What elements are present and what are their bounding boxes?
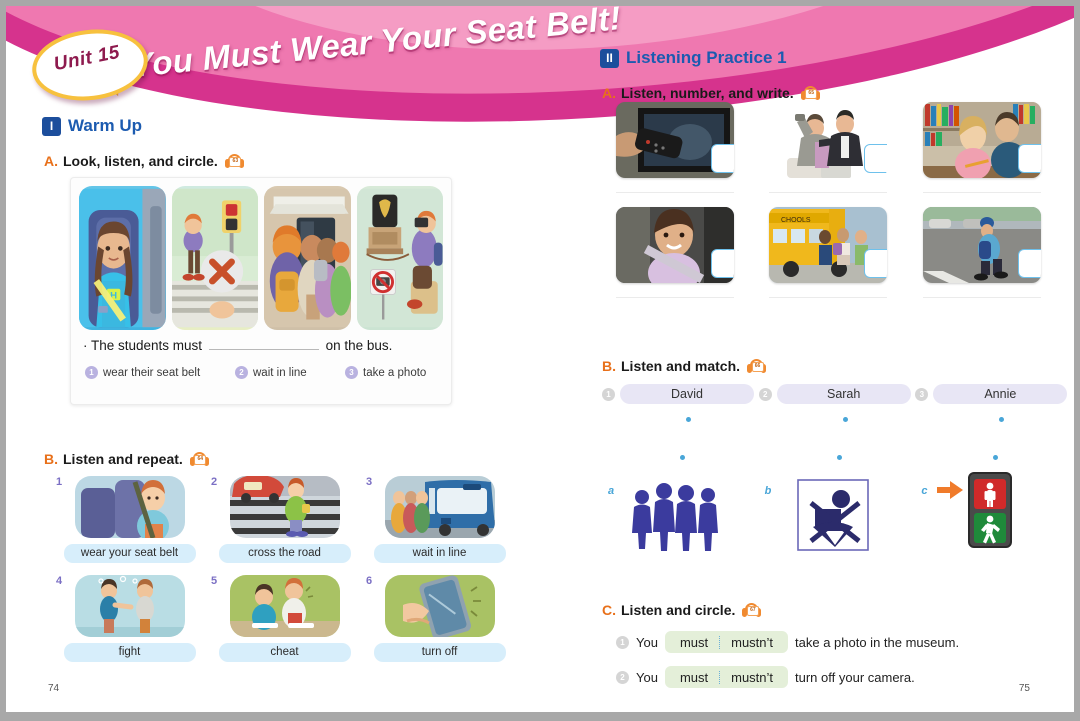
photo-item bbox=[604, 207, 757, 298]
write-line[interactable] bbox=[923, 192, 1041, 193]
name-pill: David bbox=[620, 384, 754, 404]
match-dot[interactable] bbox=[680, 455, 685, 460]
circle-question: 1 You must mustn’t take a photo in the m… bbox=[616, 631, 1072, 653]
warm-up-option[interactable]: 2 wait in line bbox=[235, 366, 345, 379]
unit-badge: Unit 15 bbox=[32, 30, 140, 92]
vocab-image-turn-off bbox=[385, 575, 495, 637]
match-dot[interactable] bbox=[993, 455, 998, 460]
illustration-stop-crossing[interactable] bbox=[172, 186, 259, 330]
sentence-suffix: turn off your camera. bbox=[795, 670, 915, 685]
part-c-heading: C. Listen and circle. 67 bbox=[602, 602, 1072, 618]
part-letter: A. bbox=[602, 85, 616, 101]
book-spread: You Must Wear Your Seat Belt! Unit 15 I … bbox=[6, 6, 1074, 712]
left-page: I Warm Up A. Look, listen, and circle. 6… bbox=[6, 102, 566, 712]
vocab-item[interactable]: 1 wear bbox=[52, 476, 207, 563]
no-seat-belt-sign-icon bbox=[797, 479, 869, 556]
audio-track-number: 63 bbox=[229, 157, 241, 167]
vocab-item[interactable]: 6 bbox=[362, 575, 517, 662]
section-title: Listening Practice 1 bbox=[626, 48, 787, 68]
icon-letter: b bbox=[765, 485, 772, 497]
sentence-prefix: You bbox=[636, 635, 658, 650]
part-instruction: Listen and circle. bbox=[621, 602, 735, 618]
page-number-right: 75 bbox=[1019, 683, 1030, 694]
warm-up-sentence: · The students must on the bus. bbox=[83, 338, 439, 353]
photo-item: CHOOLS bbox=[757, 207, 910, 298]
item-number: 6 bbox=[366, 575, 372, 587]
match-icon-item[interactable]: b bbox=[759, 467, 916, 547]
option-label: take a photo bbox=[363, 367, 426, 379]
warm-up-option[interactable]: 1 wear their seat belt bbox=[85, 366, 235, 379]
photo-boy-crossing-street[interactable] bbox=[923, 207, 1041, 283]
icon-letter: c bbox=[921, 485, 927, 497]
part-b-heading: B. Listen and match. 66 bbox=[602, 358, 1072, 374]
match-dot[interactable] bbox=[686, 417, 691, 422]
option-label: wear their seat belt bbox=[103, 367, 200, 379]
audio-track-number: 64 bbox=[194, 455, 206, 465]
item-number: 2 bbox=[759, 388, 772, 401]
item-number: 2 bbox=[616, 671, 629, 684]
match-icon-row: a b bbox=[602, 467, 1072, 547]
item-number: 3 bbox=[915, 388, 928, 401]
listen-repeat-grid: 1 wear bbox=[52, 476, 522, 674]
answer-box[interactable] bbox=[1018, 144, 1041, 173]
match-dot[interactable] bbox=[999, 417, 1004, 422]
photo-row: CHOOLS bbox=[604, 207, 1064, 298]
item-number: 4 bbox=[56, 575, 62, 587]
audio-track-number: 66 bbox=[752, 362, 764, 372]
name-pill-row: 1 David 2 Sarah 3 Annie bbox=[602, 384, 1072, 404]
photo-children-school-bus[interactable]: CHOOLS bbox=[769, 207, 887, 283]
match-icon-item[interactable]: c bbox=[915, 467, 1072, 547]
warm-up-illustration-strip: H bbox=[79, 186, 443, 330]
part-instruction: Listen, number, and write. bbox=[621, 85, 794, 101]
listen-number-write-grid: CHOOLS bbox=[604, 102, 1064, 312]
name-item[interactable]: 3 Annie bbox=[915, 384, 1072, 404]
vocab-image-wait-in-line bbox=[385, 476, 495, 538]
choice-must[interactable]: must bbox=[669, 670, 719, 685]
listen-repeat-row: 1 wear bbox=[52, 476, 522, 563]
right-page: II Listening Practice 1 A. Listen, numbe… bbox=[566, 30, 1074, 712]
warm-up-options: 1 wear their seat belt 2 wait in line 3 … bbox=[85, 366, 441, 379]
name-pill: Annie bbox=[933, 384, 1067, 404]
name-item[interactable]: 1 David bbox=[602, 384, 759, 404]
warm-up-card: H bbox=[70, 177, 452, 405]
listen-and-match: B. Listen and match. 66 1 David 2 Sarah … bbox=[602, 358, 1072, 547]
choice-group: must mustn’t bbox=[665, 666, 788, 688]
part-a-heading: A. Listen, number, and write. 65 bbox=[602, 85, 820, 101]
part-a-heading: A. Look, listen, and circle. 63 bbox=[44, 153, 244, 169]
pedestrian-traffic-light-icon bbox=[967, 471, 1013, 554]
name-item[interactable]: 2 Sarah bbox=[759, 384, 916, 404]
sentence-suffix: take a photo in the museum. bbox=[795, 635, 959, 650]
part-instruction: Look, listen, and circle. bbox=[63, 153, 218, 169]
photo-item bbox=[911, 207, 1064, 298]
write-line[interactable] bbox=[616, 192, 734, 193]
match-dot-row-top bbox=[602, 409, 1072, 427]
sentence-prefix: You bbox=[636, 670, 658, 685]
illustration-wait-in-line[interactable] bbox=[264, 186, 351, 330]
answer-box[interactable] bbox=[711, 144, 734, 173]
match-dot[interactable] bbox=[837, 455, 842, 460]
photo-tv-remote[interactable] bbox=[616, 102, 734, 178]
listen-repeat-row: 4 bbox=[52, 575, 522, 662]
sentence-prefix: · The students must bbox=[83, 338, 202, 353]
write-line[interactable] bbox=[616, 297, 734, 298]
write-line[interactable] bbox=[769, 192, 887, 193]
vocab-item[interactable]: 4 bbox=[52, 575, 207, 662]
audio-track-number: 65 bbox=[805, 89, 817, 99]
icon-letter: a bbox=[608, 485, 614, 497]
vocab-image-cross-road bbox=[230, 476, 340, 538]
option-number: 1 bbox=[85, 366, 98, 379]
vocab-item[interactable]: 2 bbox=[207, 476, 362, 563]
vocab-image-seat-belt bbox=[75, 476, 185, 538]
vocab-image-cheat bbox=[230, 575, 340, 637]
photo-girl-car-seat-belt[interactable] bbox=[616, 207, 734, 283]
vocab-label: turn off bbox=[374, 643, 506, 662]
part-instruction: Listen and match. bbox=[621, 358, 740, 374]
vocab-label: cross the road bbox=[219, 544, 351, 563]
item-number: 1 bbox=[602, 388, 615, 401]
page-number-left: 74 bbox=[48, 683, 59, 694]
photo-item bbox=[757, 102, 910, 193]
match-icon-item[interactable]: a bbox=[602, 467, 759, 547]
section-roman-numeral: I bbox=[42, 117, 61, 136]
illustration-seat-belt[interactable]: H bbox=[79, 186, 166, 330]
item-number: 1 bbox=[56, 476, 62, 488]
listening-practice-heading: II Listening Practice 1 bbox=[600, 48, 787, 68]
illustration-no-photo[interactable] bbox=[357, 186, 444, 330]
vocab-item[interactable]: 3 bbox=[362, 476, 517, 563]
part-instruction: Listen and repeat. bbox=[63, 451, 183, 467]
people-in-line-icon bbox=[628, 481, 726, 556]
vocab-item[interactable]: 5 bbox=[207, 575, 362, 662]
headphone-icon: 64 bbox=[190, 452, 209, 467]
vocab-image-fight bbox=[75, 575, 185, 637]
match-dot[interactable] bbox=[843, 417, 848, 422]
section-title: Warm Up bbox=[68, 116, 142, 136]
answer-box[interactable] bbox=[864, 144, 887, 173]
answer-box[interactable] bbox=[711, 249, 734, 278]
photo-item bbox=[911, 102, 1064, 193]
choice-mustnt[interactable]: mustn’t bbox=[720, 635, 784, 650]
vocab-label: cheat bbox=[219, 643, 351, 662]
vocab-label: fight bbox=[64, 643, 196, 662]
item-number: 5 bbox=[211, 575, 217, 587]
choice-must[interactable]: must bbox=[669, 635, 719, 650]
item-number: 2 bbox=[211, 476, 217, 488]
svg-text:CHOOLS: CHOOLS bbox=[781, 217, 811, 224]
write-line[interactable] bbox=[923, 297, 1041, 298]
warm-up-heading: I Warm Up bbox=[42, 116, 142, 136]
answer-box[interactable] bbox=[864, 249, 887, 278]
answer-box[interactable] bbox=[1018, 249, 1041, 278]
sentence-suffix: on the bus. bbox=[326, 338, 393, 353]
option-number: 3 bbox=[345, 366, 358, 379]
option-number: 2 bbox=[235, 366, 248, 379]
headphone-icon: 65 bbox=[801, 86, 820, 101]
vocab-label: wait in line bbox=[374, 544, 506, 563]
headphone-icon: 67 bbox=[742, 603, 761, 618]
part-letter: B. bbox=[602, 358, 616, 374]
item-number: 3 bbox=[366, 476, 372, 488]
name-pill: Sarah bbox=[777, 384, 911, 404]
photo-students-library[interactable] bbox=[923, 102, 1041, 178]
headphone-icon: 66 bbox=[747, 359, 766, 374]
arrow-right-icon bbox=[937, 481, 963, 504]
photo-two-men-fighting[interactable] bbox=[769, 102, 887, 178]
option-label: wait in line bbox=[253, 367, 307, 379]
photo-item bbox=[604, 102, 757, 193]
warm-up-option[interactable]: 3 take a photo bbox=[345, 366, 441, 379]
audio-track-number: 67 bbox=[747, 606, 759, 616]
choice-mustnt[interactable]: mustn’t bbox=[720, 670, 784, 685]
vocab-label: wear your seat belt bbox=[64, 544, 196, 563]
part-b-heading: B. Listen and repeat. 64 bbox=[44, 451, 209, 467]
part-letter: C. bbox=[602, 602, 616, 618]
section-roman-numeral: II bbox=[600, 49, 619, 68]
part-letter: B. bbox=[44, 451, 58, 467]
choice-group: must mustn’t bbox=[665, 631, 788, 653]
item-number: 1 bbox=[616, 636, 629, 649]
listen-and-circle: C. Listen and circle. 67 1 You must must… bbox=[602, 602, 1072, 688]
photo-row bbox=[604, 102, 1064, 193]
answer-blank[interactable] bbox=[209, 349, 319, 350]
circle-question: 2 You must mustn’t turn off your camera. bbox=[616, 666, 1072, 688]
part-letter: A. bbox=[44, 153, 58, 169]
headphone-icon: 63 bbox=[225, 154, 244, 169]
write-line[interactable] bbox=[769, 297, 887, 298]
